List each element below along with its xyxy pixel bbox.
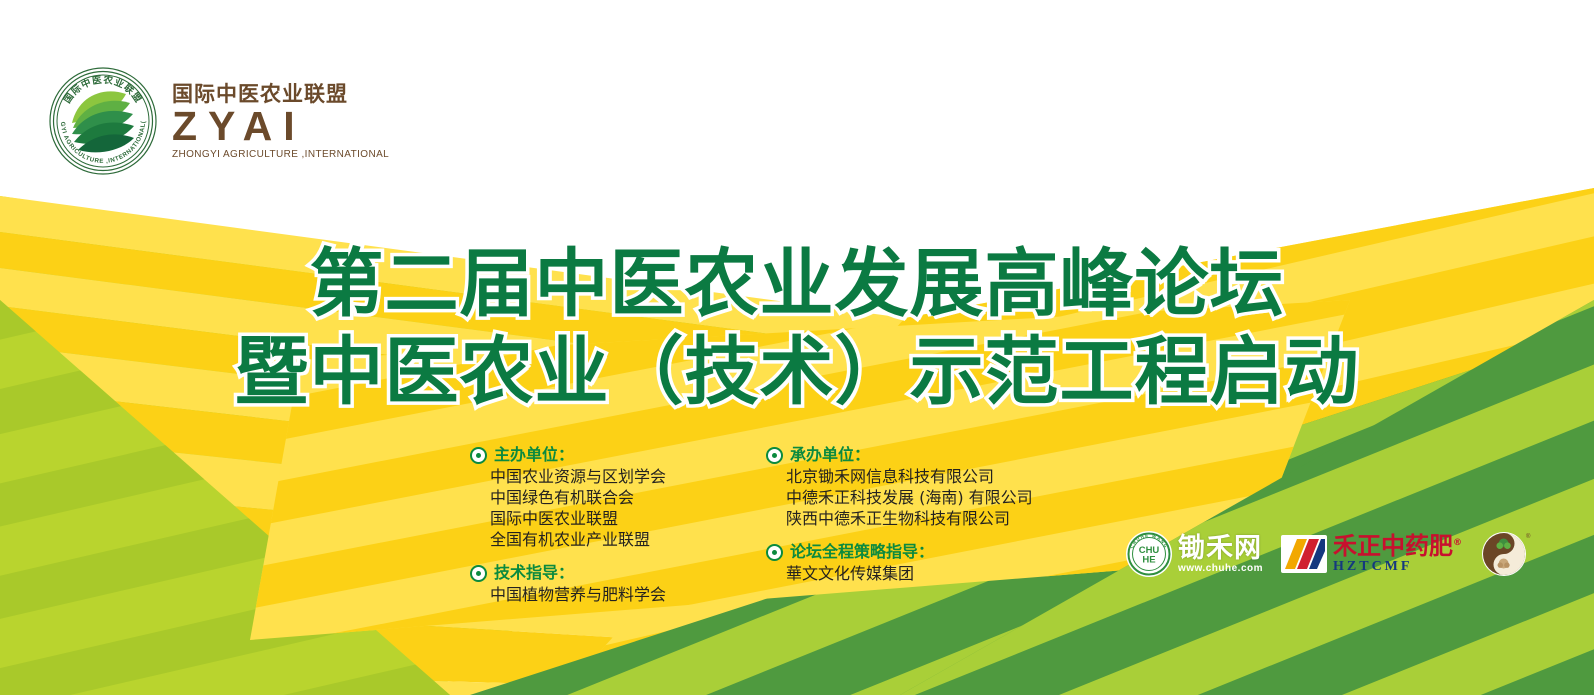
credit-group-technical-guidance: 技术指导： 中国植物营养与肥料学会 xyxy=(470,562,732,605)
credits-column-left: 主办单位： 中国农业资源与区划学会 中国绿色有机联合会 国际中医农业联盟 全国有… xyxy=(470,444,732,617)
credit-item-list: 華文文化传媒集团 xyxy=(766,563,1066,584)
taiji-tree-seal-icon: ® xyxy=(1480,528,1532,580)
credit-heading-label: 承办单位： xyxy=(790,444,870,466)
credit-item: 国际中医农业联盟 xyxy=(490,508,732,529)
poster-canvas: 国际中医农业联盟 ZHONGYI AGRICULTURE ,INTERNATIO… xyxy=(0,0,1594,695)
sponsor-hztcmf: 禾正中药肥® HZTCMF xyxy=(1281,534,1462,574)
credit-group-hosts: 承办单位： 北京锄禾网信息科技有限公司 中德禾正科技发展 (海南) 有限公司 陕… xyxy=(766,444,1066,529)
hztcmf-z-mark-icon xyxy=(1281,535,1327,573)
credit-heading-label: 主办单位： xyxy=(494,444,574,466)
credit-heading-label: 技术指导： xyxy=(494,562,574,584)
bullet-icon xyxy=(766,447,783,464)
sponsor-name-cn: 禾正中药肥® xyxy=(1333,534,1462,558)
sponsor-name-en: HZTCMF xyxy=(1333,560,1462,574)
bullet-icon xyxy=(470,447,487,464)
sponsor-taiji-tree: ® xyxy=(1480,528,1532,580)
logo-name-en: ZHONGYI AGRICULTURE ,INTERNATIONAL xyxy=(172,149,389,160)
credits-block: 主办单位： 中国农业资源与区划学会 中国绿色有机联合会 国际中医农业联盟 全国有… xyxy=(470,444,1066,617)
sponsor-chuhe: CHUHE WANG CHU HE 锄禾网 www.chuhe.com xyxy=(1125,530,1263,578)
credit-item-list: 北京锄禾网信息科技有限公司 中德禾正科技发展 (海南) 有限公司 陕西中德禾正生… xyxy=(766,466,1066,529)
credit-item: 陕西中德禾正生物科技有限公司 xyxy=(786,508,1066,529)
credit-heading-label: 论坛全程策略指导： xyxy=(790,541,934,563)
logo-abbreviation: ZYAI xyxy=(172,105,389,148)
credit-item-list: 中国植物营养与肥料学会 xyxy=(470,584,732,605)
bullet-icon xyxy=(470,565,487,582)
sponsor-name-cn: 锄禾网 xyxy=(1178,535,1263,562)
sponsor-logo-strip: CHUHE WANG CHU HE 锄禾网 www.chuhe.com 禾正中药… xyxy=(1125,528,1532,580)
credit-item: 中国农业资源与区划学会 xyxy=(490,466,732,487)
credit-heading: 主办单位： xyxy=(470,444,732,466)
registered-mark: ® xyxy=(1526,533,1531,540)
credit-item: 中德禾正科技发展 (海南) 有限公司 xyxy=(786,487,1066,508)
chuhe-seal-icon: CHUHE WANG CHU HE xyxy=(1125,530,1173,578)
svg-text:HE: HE xyxy=(1142,555,1155,566)
credits-column-right: 承办单位： 北京锄禾网信息科技有限公司 中德禾正科技发展 (海南) 有限公司 陕… xyxy=(766,444,1066,617)
credit-heading: 论坛全程策略指导： xyxy=(766,541,1066,563)
credit-heading: 承办单位： xyxy=(766,444,1066,466)
logo-wordmark: 国际中医农业联盟 ZYAI ZHONGYI AGRICULTURE ,INTER… xyxy=(172,82,389,160)
credit-item: 中国植物营养与肥料学会 xyxy=(490,584,732,605)
credit-item: 華文文化传媒集团 xyxy=(786,563,1066,584)
credit-heading: 技术指导： xyxy=(470,562,732,584)
credit-item-list: 中国农业资源与区划学会 中国绿色有机联合会 国际中医农业联盟 全国有机农业产业联… xyxy=(470,466,732,550)
credit-item: 全国有机农业产业联盟 xyxy=(490,529,732,550)
organization-logo: 国际中医农业联盟 ZHONGYI AGRICULTURE ,INTERNATIO… xyxy=(48,66,389,176)
credit-group-strategic-guidance: 论坛全程策略指导： 華文文化传媒集团 xyxy=(766,541,1066,584)
bullet-icon xyxy=(766,544,783,561)
sponsor-url: www.chuhe.com xyxy=(1178,564,1263,574)
credit-item: 中国绿色有机联合会 xyxy=(490,487,732,508)
credit-group-organizers: 主办单位： 中国农业资源与区划学会 中国绿色有机联合会 国际中医农业联盟 全国有… xyxy=(470,444,732,550)
zyai-circular-emblem-icon: 国际中医农业联盟 ZHONGYI AGRICULTURE ,INTERNATIO… xyxy=(48,66,158,176)
credit-item: 北京锄禾网信息科技有限公司 xyxy=(786,466,1066,487)
